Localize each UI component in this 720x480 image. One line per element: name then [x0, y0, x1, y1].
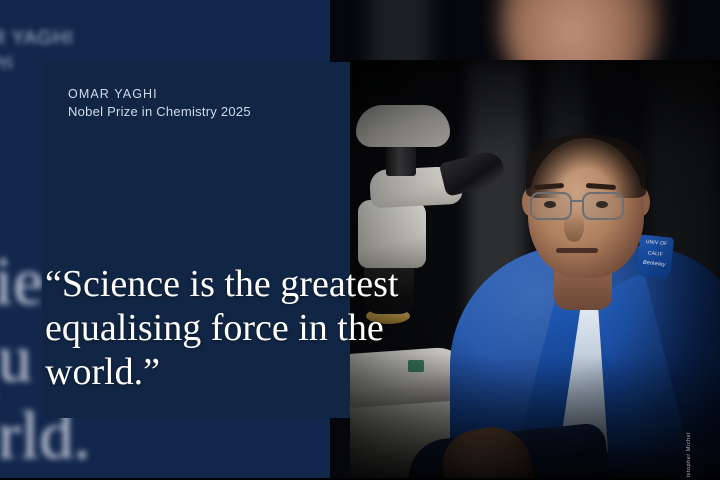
pull-quote: “Science is the greatest equalising forc…	[45, 262, 505, 394]
prize-subtitle: Nobel Prize in Chemistry 2025	[68, 103, 251, 121]
quote-card: AR YAGHI l Pri cie qu orld. UNIV OF CALI…	[0, 0, 720, 480]
panel-header: OMAR YAGHI Nobel Prize in Chemistry 2025	[68, 86, 251, 121]
microscope-neck	[386, 142, 416, 176]
mouth	[556, 248, 598, 253]
photo-credit: Photo: Christopher Michel	[686, 432, 692, 480]
background-name-echo: AR YAGHI	[0, 26, 73, 51]
eyeglasses-bridge	[572, 200, 584, 202]
laureate-name: OMAR YAGHI	[68, 86, 251, 103]
microscope-head	[356, 105, 450, 147]
eyeglasses-left-lens	[530, 192, 572, 220]
uc-berkeley-patch: UNIV OF CALIF Berkeley	[636, 234, 674, 279]
microscope-body-block	[358, 200, 426, 268]
eyeglasses-right-lens	[582, 192, 624, 220]
patch-line-3: Berkeley	[637, 257, 672, 270]
